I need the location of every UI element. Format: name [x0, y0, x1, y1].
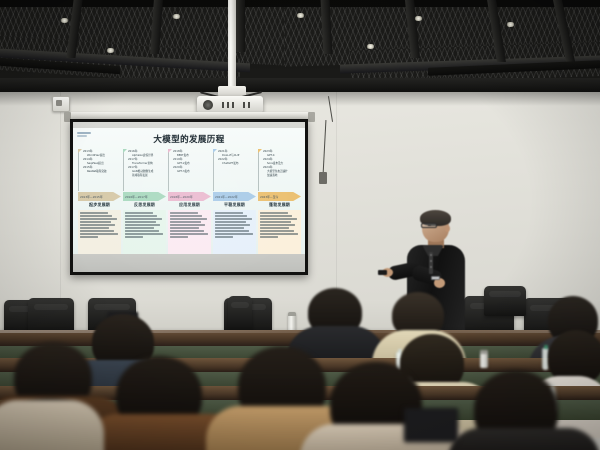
lecture-hall-scene: 大模型的发展历程 2013年:Word2Vec提出2014年:Seq2Seq提出…	[0, 0, 600, 450]
description-text-line	[170, 212, 198, 214]
description-text-line	[125, 224, 160, 226]
timeline-phase-label: 平稳发展期	[213, 202, 256, 208]
projector-mount-pole	[228, 0, 236, 88]
ceiling-downlight	[60, 18, 69, 23]
timeline-flag-icon	[213, 149, 217, 153]
thermos-bottle	[480, 350, 488, 368]
ceiling-downlight	[172, 14, 181, 19]
wall-sensor-icon	[52, 96, 70, 112]
projection-screen: 大模型的发展历程 2013年:Word2Vec提出2014年:Seq2Seq提出…	[70, 119, 308, 275]
timeline-container: 2013年:Word2Vec提出2014年:Seq2Seq提出2015年:Res…	[78, 148, 301, 256]
timeline-tick	[213, 149, 214, 191]
description-text-line	[260, 224, 295, 226]
description-text-line	[125, 215, 157, 217]
screen-surface: 大模型的发展历程 2013年:Word2Vec提出2014年:Seq2Seq提出…	[73, 122, 305, 272]
timeline-events: 2013年:Word2Vec提出2014年:Seq2Seq提出2015年:Res…	[78, 148, 121, 192]
front-chair	[228, 296, 252, 330]
timeline-flag-icon	[258, 149, 262, 153]
wall-speaker-icon	[319, 172, 327, 184]
timeline-column: 2021年:DALL-E与CLIP2022年:ChatGPT发布2021年—20…	[213, 148, 256, 256]
timeline-description	[78, 210, 121, 256]
description-text-line	[80, 224, 115, 226]
timeline-event-text: 领域取得发展	[128, 174, 166, 178]
timeline-column: 2023年:GPT-42024年:Sora发布及大2024年:大模型生态迅速扩加…	[258, 148, 301, 256]
description-text-line	[125, 227, 154, 229]
front-chair	[28, 298, 74, 334]
wall-top-shadow	[0, 92, 600, 106]
description-text-line	[80, 230, 114, 232]
ceiling-beam	[236, 0, 245, 52]
timeline-tick	[258, 149, 259, 191]
description-text-line	[260, 218, 297, 220]
timeline-flag-icon	[123, 149, 127, 153]
description-text-line	[215, 212, 243, 214]
timeline-phase-label: 反思发展期	[123, 202, 166, 208]
timeline-events: 2018年:BERT发布2019年:GPT-2发布2020年:GPT-3发布	[168, 148, 211, 192]
description-text-line	[80, 233, 118, 235]
timeline-phase-label: 蓬勃发展期	[258, 202, 301, 208]
description-text-line	[170, 215, 202, 217]
timeline-events: 2023年:GPT-42024年:Sora发布及大2024年:大模型生态迅速扩加…	[258, 148, 301, 192]
ceiling-downlight	[296, 13, 305, 18]
timeline-description	[213, 210, 256, 256]
projector-vent	[248, 102, 250, 108]
presenter-remote-icon	[378, 270, 387, 275]
description-text-line	[80, 215, 112, 217]
timeline-tick	[78, 149, 79, 191]
timeline-arrow: 2023年—至今	[258, 192, 301, 201]
description-text-line	[170, 221, 201, 223]
audience-shoulders	[448, 428, 600, 450]
description-text-line	[215, 236, 233, 238]
screen-roller-cap	[308, 112, 315, 122]
ceiling-downlight	[414, 16, 423, 21]
timeline-range-label: 2013年—2015年	[80, 192, 111, 201]
projector-vent	[243, 102, 245, 108]
timeline-event-text: ResNet取得突破	[83, 170, 121, 174]
ceiling-downlight	[506, 22, 515, 27]
timeline-flag-icon	[168, 149, 172, 153]
timeline-column: 2016年:AlphaGo震惊世界2017年:Transformer架构2017…	[123, 148, 166, 256]
ceiling-beam	[0, 0, 600, 7]
description-text-line	[125, 236, 143, 238]
description-text-line	[170, 227, 199, 229]
description-text-line	[215, 218, 252, 220]
description-text-line	[215, 233, 253, 235]
ceiling-downlight	[106, 48, 115, 53]
description-text-line	[80, 227, 109, 229]
timeline-description	[123, 210, 166, 256]
screen-blank-area	[73, 254, 305, 272]
timeline-events: 2021年:DALL-E与CLIP2022年:ChatGPT发布	[213, 148, 256, 192]
thermos-bottle	[288, 312, 296, 332]
timeline-tick	[123, 149, 124, 191]
description-text-line	[260, 236, 278, 238]
ceiling-downlight	[366, 44, 375, 49]
description-text-line	[260, 227, 289, 229]
shirt-button	[430, 266, 432, 268]
slide-title: 大模型的发展历程	[73, 133, 305, 145]
description-text-line	[170, 230, 204, 232]
wall-seam	[60, 92, 61, 332]
timeline-tick	[168, 149, 169, 191]
description-text-line	[170, 224, 205, 226]
timeline-phase-label: 应用发展期	[168, 202, 211, 208]
laptop	[404, 408, 458, 442]
timeline-event-text: ChatGPT发布	[218, 162, 256, 166]
timeline-range-label: 2018年—2020年	[170, 192, 201, 201]
description-text-line	[260, 221, 291, 223]
timeline-arrow: 2021年—2022年	[213, 192, 256, 201]
description-text-line	[125, 212, 153, 214]
audience-shoulders	[0, 400, 104, 450]
timeline-range-label: 2023年—至今	[260, 192, 291, 201]
projector-vent	[232, 102, 234, 108]
front-chair	[484, 286, 526, 316]
description-text-line	[170, 233, 208, 235]
projector-lens-icon	[203, 100, 213, 110]
description-text-line	[215, 227, 244, 229]
description-text-line	[260, 212, 288, 214]
glasses-icon	[421, 223, 437, 228]
description-text-line	[125, 221, 156, 223]
timeline-phase-label: 起步发展期	[78, 202, 121, 208]
timeline-column: 2013年:Word2Vec提出2014年:Seq2Seq提出2015年:Res…	[78, 148, 121, 256]
description-text-line	[80, 221, 111, 223]
timeline-column: 2018年:BERT发布2019年:GPT-2发布2020年:GPT-3发布20…	[168, 148, 211, 256]
timeline-event-text: 加速落地	[263, 174, 301, 178]
description-text-line	[215, 221, 246, 223]
description-text-line	[80, 218, 117, 220]
description-text-line	[125, 233, 163, 235]
projector-vent	[222, 102, 224, 108]
screen-roller-bar	[68, 112, 310, 119]
description-text-line	[125, 230, 159, 232]
projected-slide: 大模型的发展历程 2013年:Word2Vec提出2014年:Seq2Seq提出…	[73, 128, 305, 260]
projector-vent	[227, 102, 229, 108]
description-text-line	[170, 236, 188, 238]
description-text-line	[260, 215, 292, 217]
timeline-description	[168, 210, 211, 256]
description-text-line	[125, 218, 162, 220]
timeline-arrow: 2016年—2017年	[123, 192, 166, 201]
wristwatch-icon	[431, 276, 440, 280]
description-text-line	[215, 230, 249, 232]
description-text-line	[260, 230, 294, 232]
timeline-range-label: 2016年—2017年	[125, 192, 156, 201]
timeline-arrow: 2013年—2015年	[78, 192, 121, 201]
presenter-ear	[445, 225, 450, 232]
description-text-line	[215, 224, 250, 226]
description-text-line	[170, 218, 207, 220]
shirt-button	[430, 260, 432, 262]
shirt-button	[430, 254, 432, 256]
timeline-event-text: GPT-3发布	[173, 170, 211, 174]
timeline-description	[258, 210, 301, 256]
description-text-line	[260, 233, 298, 235]
timeline-arrow: 2018年—2020年	[168, 192, 211, 201]
description-text-line	[80, 212, 108, 214]
description-text-line	[215, 215, 247, 217]
timeline-flag-icon	[78, 149, 82, 153]
timeline-events: 2016年:AlphaGo震惊世界2017年:Transformer架构2017…	[123, 148, 166, 192]
description-text-line	[80, 236, 98, 238]
timeline-range-label: 2021年—2022年	[215, 192, 246, 201]
